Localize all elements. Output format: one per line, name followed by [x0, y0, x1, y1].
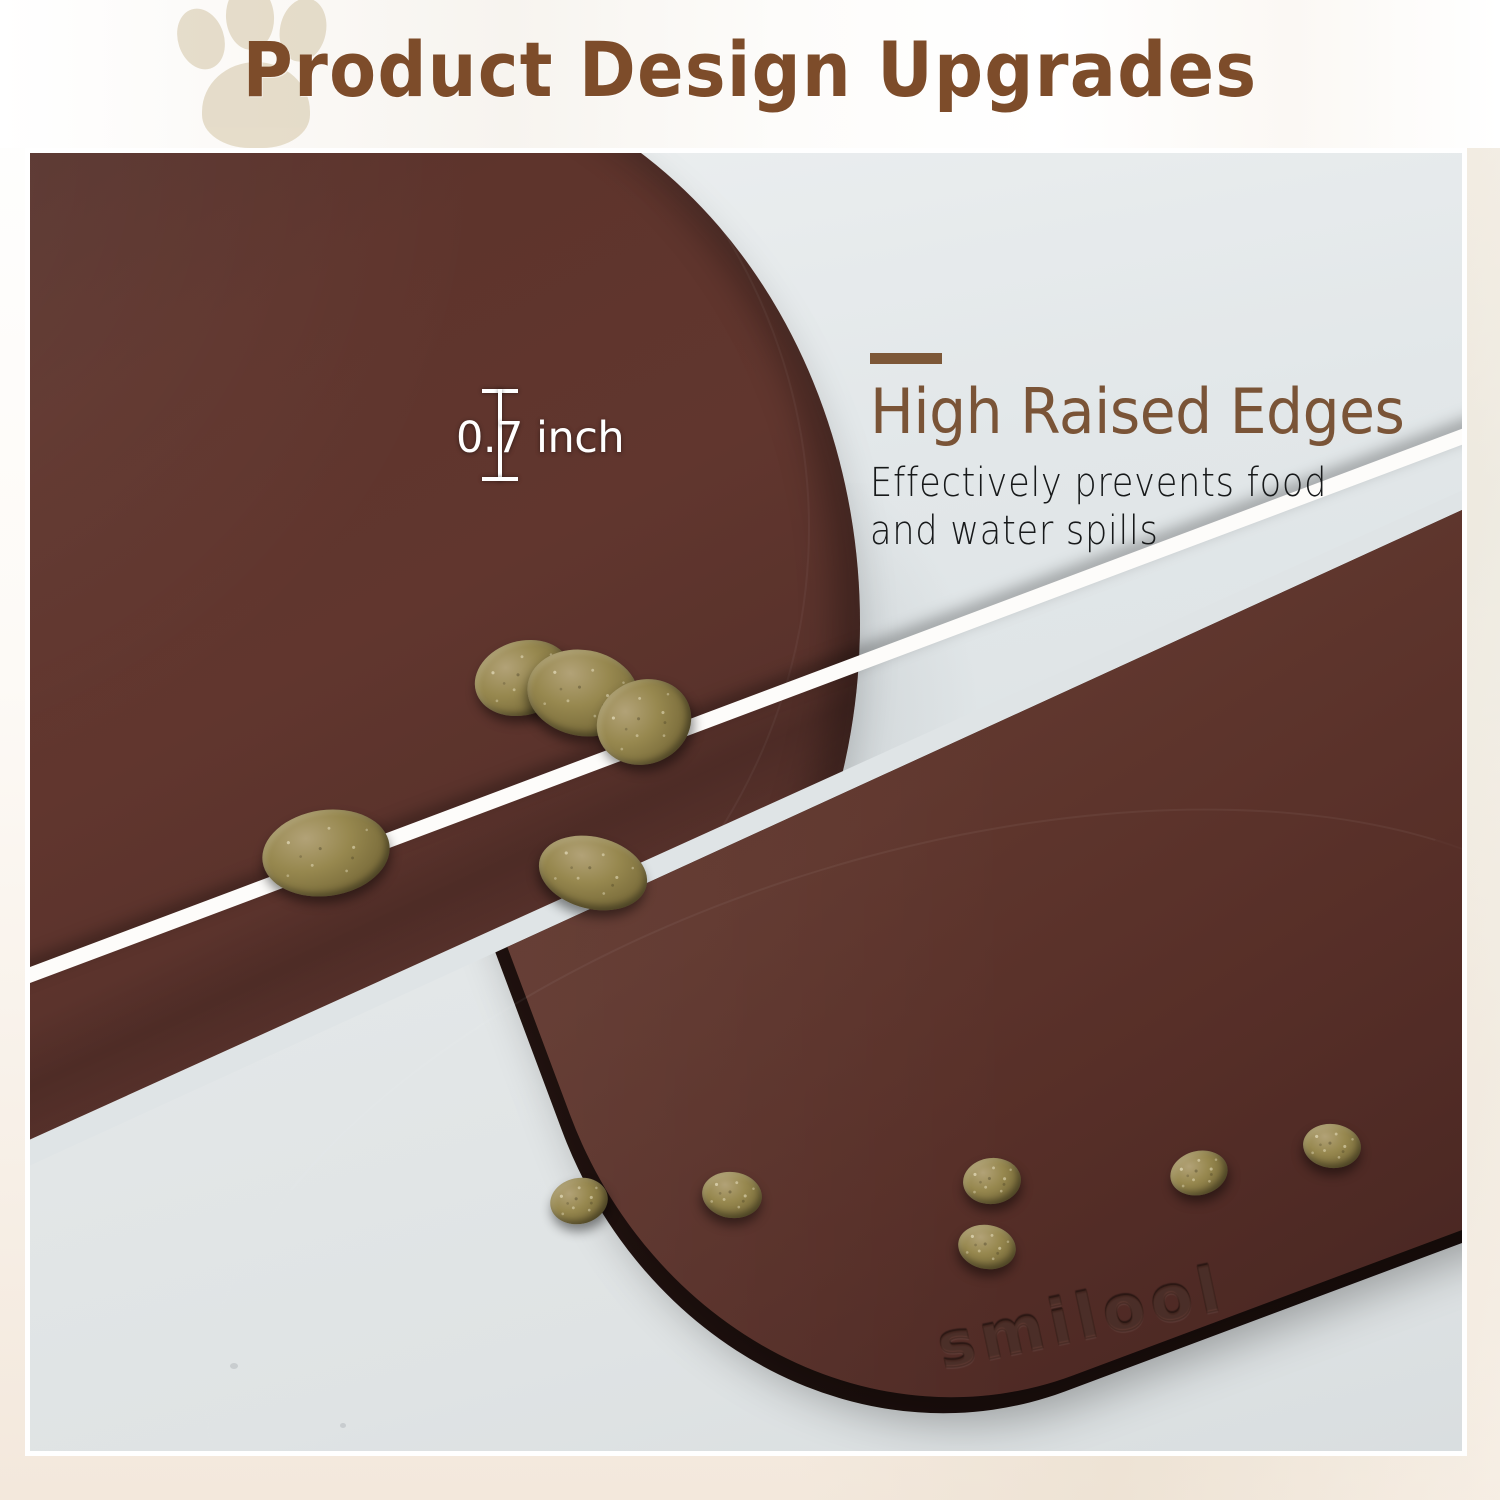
dimension-callout: 0.7 inch — [470, 377, 670, 497]
callout-subtitle: Effectively prevents food and water spil… — [870, 459, 1370, 555]
callout-subtitle-line: Effectively prevents food — [870, 459, 1370, 507]
product-photo-frame: smilool 0.7 inch High Raised Edges Effec… — [25, 148, 1467, 1456]
callout-subtitle-line: and water spills — [870, 507, 1370, 555]
page-title: Product Design Upgrades — [75, 22, 1425, 118]
floor-speck — [340, 1423, 346, 1428]
dimension-label: 0.7 inch — [456, 417, 624, 460]
header-banner: Product Design Upgrades — [0, 0, 1500, 148]
floor-speck — [230, 1363, 238, 1369]
callout-high-raised-edges: High Raised Edges Effectively prevents f… — [870, 353, 1438, 555]
accent-bar — [870, 353, 942, 364]
callout-title: High Raised Edges — [870, 377, 1404, 447]
dimension-cap-bottom — [482, 477, 518, 481]
product-photo: smilool 0.7 inch High Raised Edges Effec… — [30, 153, 1462, 1451]
